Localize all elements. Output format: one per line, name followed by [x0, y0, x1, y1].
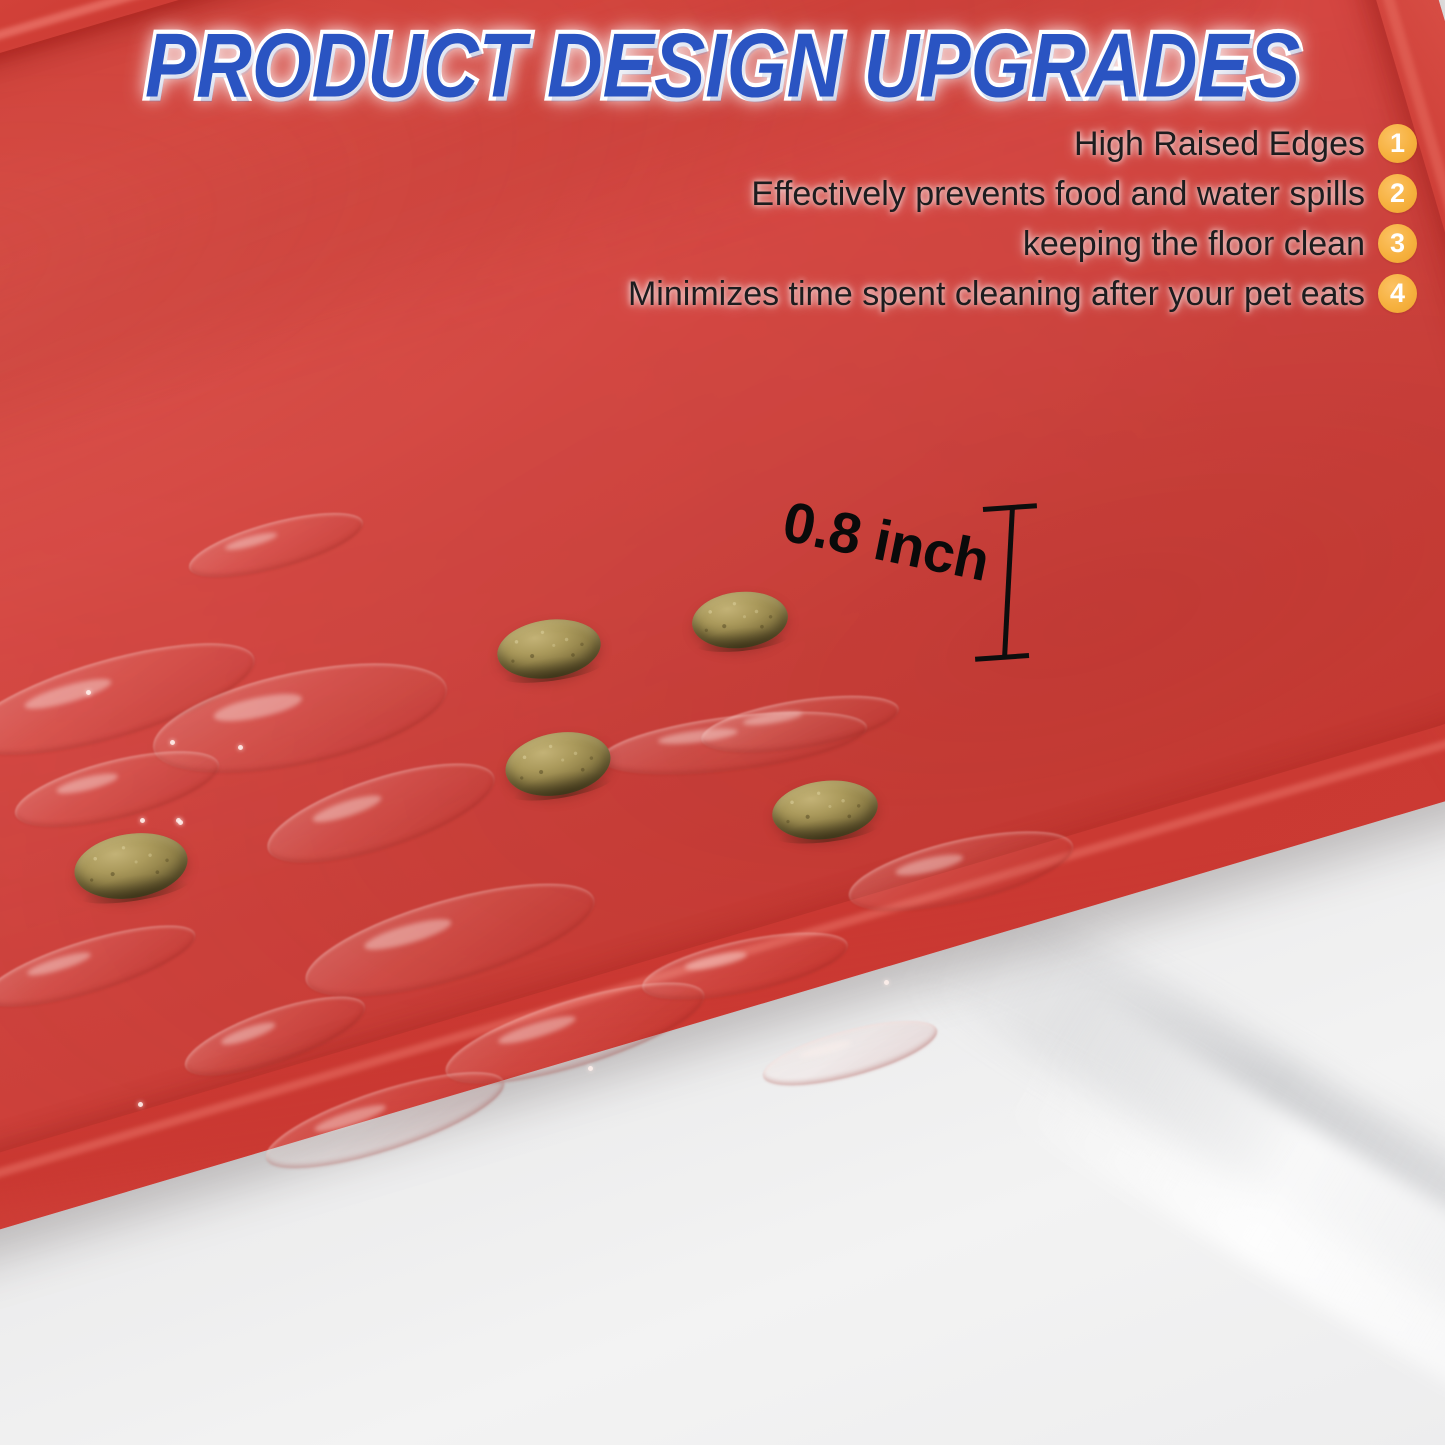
water-sparkle — [238, 745, 243, 750]
water-sparkle — [588, 1066, 593, 1071]
water-sparkle — [138, 1102, 143, 1107]
water-sparkle — [140, 818, 145, 823]
dimension-marker-icon — [971, 503, 1041, 661]
feature-item-1: High Raised Edges 1 — [1074, 122, 1417, 165]
feature-item-3: keeping the floor clean 3 — [1023, 222, 1417, 265]
water-sparkle — [178, 820, 183, 825]
feature-number-badge: 1 — [1378, 124, 1417, 163]
feature-item-4: Minimizes time spent cleaning after your… — [628, 272, 1417, 315]
page-title: PRODUCT DESIGN UPGRADES — [0, 14, 1445, 119]
product-feature-image: 0.8 inch PRODUCT DESIGN UPGRADES High Ra… — [0, 0, 1445, 1445]
feature-number-badge: 3 — [1378, 224, 1417, 263]
feature-text: Effectively prevents food and water spil… — [751, 177, 1365, 211]
feature-text: High Raised Edges — [1074, 127, 1365, 161]
feature-text: keeping the floor clean — [1023, 227, 1365, 261]
water-sparkle — [86, 690, 91, 695]
dimension-shaft — [1002, 507, 1015, 658]
feature-number-badge: 2 — [1378, 174, 1417, 213]
feature-number-badge: 4 — [1378, 274, 1417, 313]
water-sparkle — [170, 740, 175, 745]
feature-list: High Raised Edges 1 Effectively prevents… — [237, 122, 1417, 315]
water-sparkle — [884, 980, 889, 985]
feature-text: Minimizes time spent cleaning after your… — [628, 277, 1365, 311]
feature-item-2: Effectively prevents food and water spil… — [751, 172, 1417, 215]
